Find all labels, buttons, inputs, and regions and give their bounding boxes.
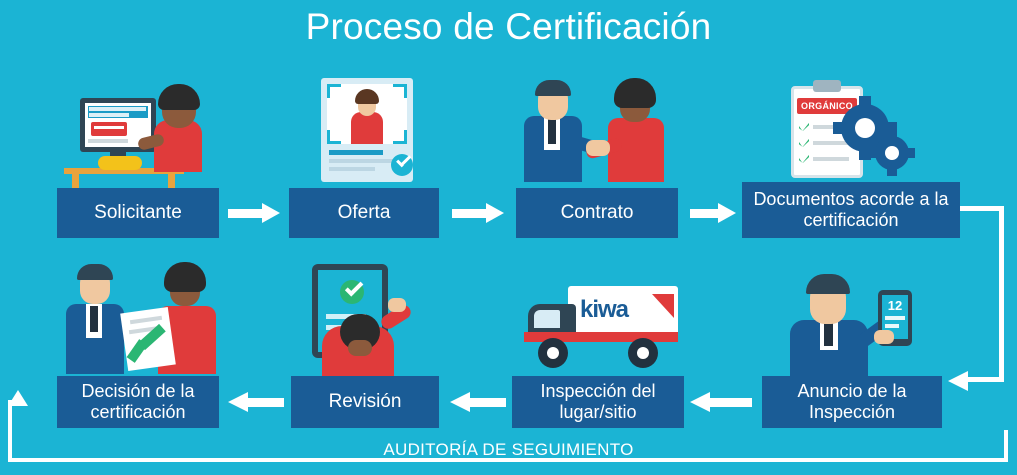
arrow-anuncio-to-inspeccion bbox=[690, 392, 752, 412]
step-label: Anuncio de la Inspección bbox=[768, 381, 936, 423]
phone-number: 12 bbox=[882, 298, 908, 313]
step-label: Revisión bbox=[329, 391, 402, 413]
step-label: Documentos acorde a la certificación bbox=[748, 189, 954, 231]
arrow-inspeccion-to-revision bbox=[450, 392, 506, 412]
infographic-canvas: Proceso de Certificación bbox=[0, 0, 1017, 475]
connector-right-vertical bbox=[999, 206, 1004, 381]
arrow-contrato-to-documentos bbox=[690, 203, 738, 223]
illustration-decision bbox=[62, 258, 222, 376]
illustration-documentos: ORGÁNICO bbox=[785, 78, 915, 186]
illustration-anuncio: 12 bbox=[782, 268, 932, 378]
step-box-contrato[interactable]: Contrato bbox=[516, 188, 678, 238]
arrow-loop-into-decision bbox=[8, 390, 28, 410]
step-label: Oferta bbox=[338, 202, 391, 224]
step-label: Contrato bbox=[561, 202, 634, 224]
connector-right-horizontal-top bbox=[960, 206, 1004, 211]
step-label: Inspección del lugar/sitio bbox=[518, 381, 678, 423]
step-box-solicitante[interactable]: Solicitante bbox=[57, 188, 219, 238]
arrow-oferta-to-contrato bbox=[452, 203, 506, 223]
step-box-oferta[interactable]: Oferta bbox=[289, 188, 439, 238]
illustration-contrato bbox=[510, 70, 680, 188]
arrow-solicitante-to-oferta bbox=[228, 203, 282, 223]
step-label: Decisión de la certificación bbox=[63, 381, 213, 423]
arrow-into-anuncio bbox=[948, 371, 1004, 391]
step-box-decision[interactable]: Decisión de la certificación bbox=[57, 376, 219, 428]
page-title: Proceso de Certificación bbox=[0, 6, 1017, 48]
illustration-oferta bbox=[315, 76, 425, 188]
step-box-anuncio[interactable]: Anuncio de la Inspección bbox=[762, 376, 942, 428]
illustration-inspeccion: kiwa bbox=[524, 282, 682, 374]
arrow-revision-to-decision bbox=[228, 392, 284, 412]
step-label: Solicitante bbox=[94, 202, 182, 224]
step-box-documentos[interactable]: Documentos acorde a la certificación bbox=[742, 182, 960, 238]
step-box-inspeccion[interactable]: Inspección del lugar/sitio bbox=[512, 376, 684, 428]
step-box-revision[interactable]: Revisión bbox=[291, 376, 439, 428]
illustration-solicitante bbox=[58, 78, 218, 188]
footer-caption: AUDITORÍA DE SEGUIMIENTO bbox=[0, 440, 1017, 460]
truck-logo: kiwa bbox=[580, 296, 652, 324]
illustration-revision bbox=[296, 258, 436, 376]
